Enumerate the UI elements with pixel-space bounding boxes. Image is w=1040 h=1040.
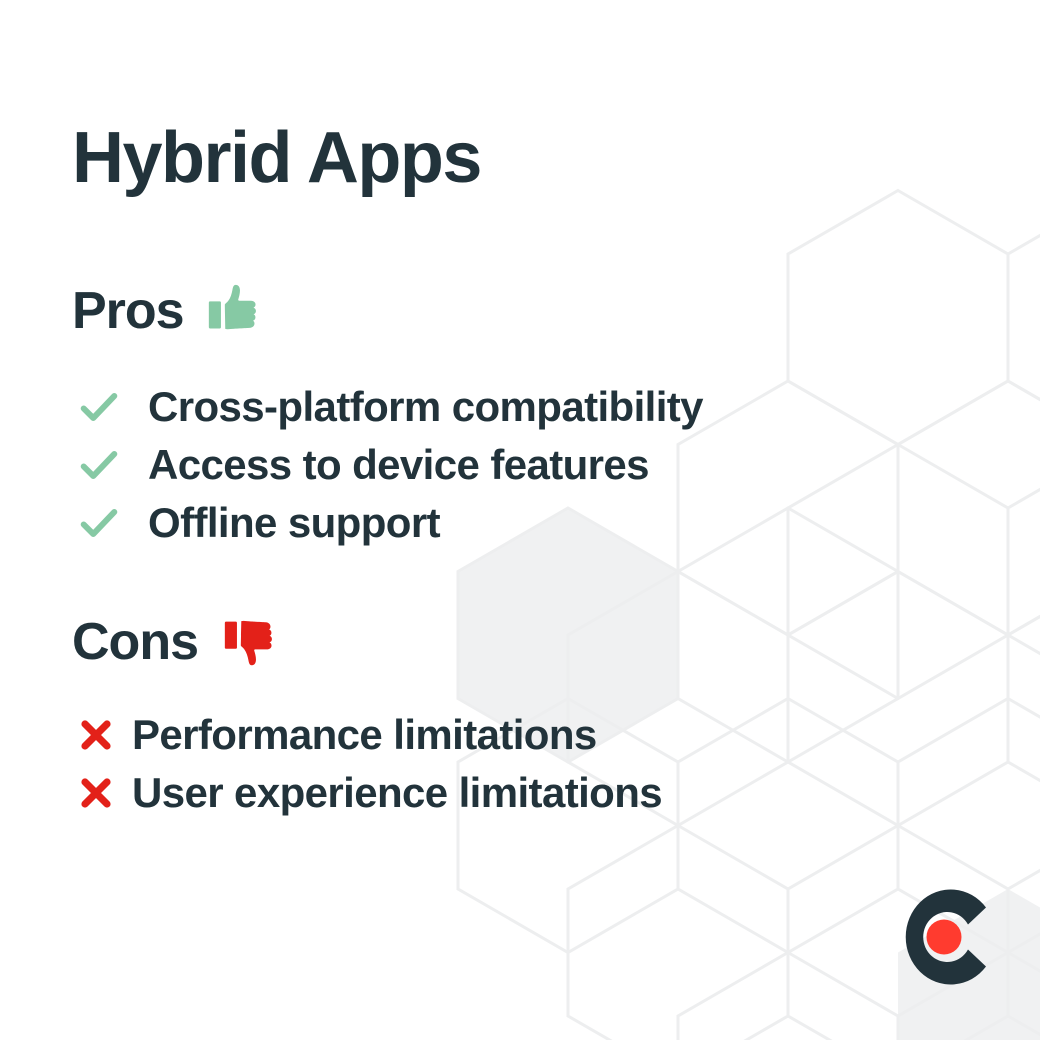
cons-heading-label: Cons [72, 616, 198, 668]
list-item: Access to device features [76, 436, 703, 494]
list-item-label: Offline support [148, 502, 440, 544]
thumbs-up-icon [204, 280, 266, 342]
check-icon [76, 442, 122, 488]
list-item: User experience limitations [76, 764, 662, 822]
list-item-label: Access to device features [148, 444, 649, 486]
list-item: Performance limitations [76, 706, 662, 764]
brand-logo [898, 888, 990, 986]
check-icon [76, 500, 122, 546]
page-title: Hybrid Apps [72, 122, 481, 194]
pros-heading: Pros [72, 280, 266, 342]
cons-heading: Cons [72, 611, 282, 673]
check-icon [76, 384, 122, 430]
slide-canvas: Hybrid Apps Pros Cross-platform compatib… [0, 0, 1040, 1040]
list-item-label: Performance limitations [132, 714, 597, 756]
cross-icon [76, 773, 116, 813]
pros-heading-label: Pros [72, 285, 184, 337]
cross-icon [76, 715, 116, 755]
list-item: Cross-platform compatibility [76, 378, 703, 436]
thumbs-down-icon [220, 611, 282, 673]
list-item: Offline support [76, 494, 703, 552]
list-item-label: User experience limitations [132, 772, 662, 814]
pros-list: Cross-platform compatibility Access to d… [76, 378, 703, 552]
cons-list: Performance limitations User experience … [76, 706, 662, 822]
list-item-label: Cross-platform compatibility [148, 386, 703, 428]
